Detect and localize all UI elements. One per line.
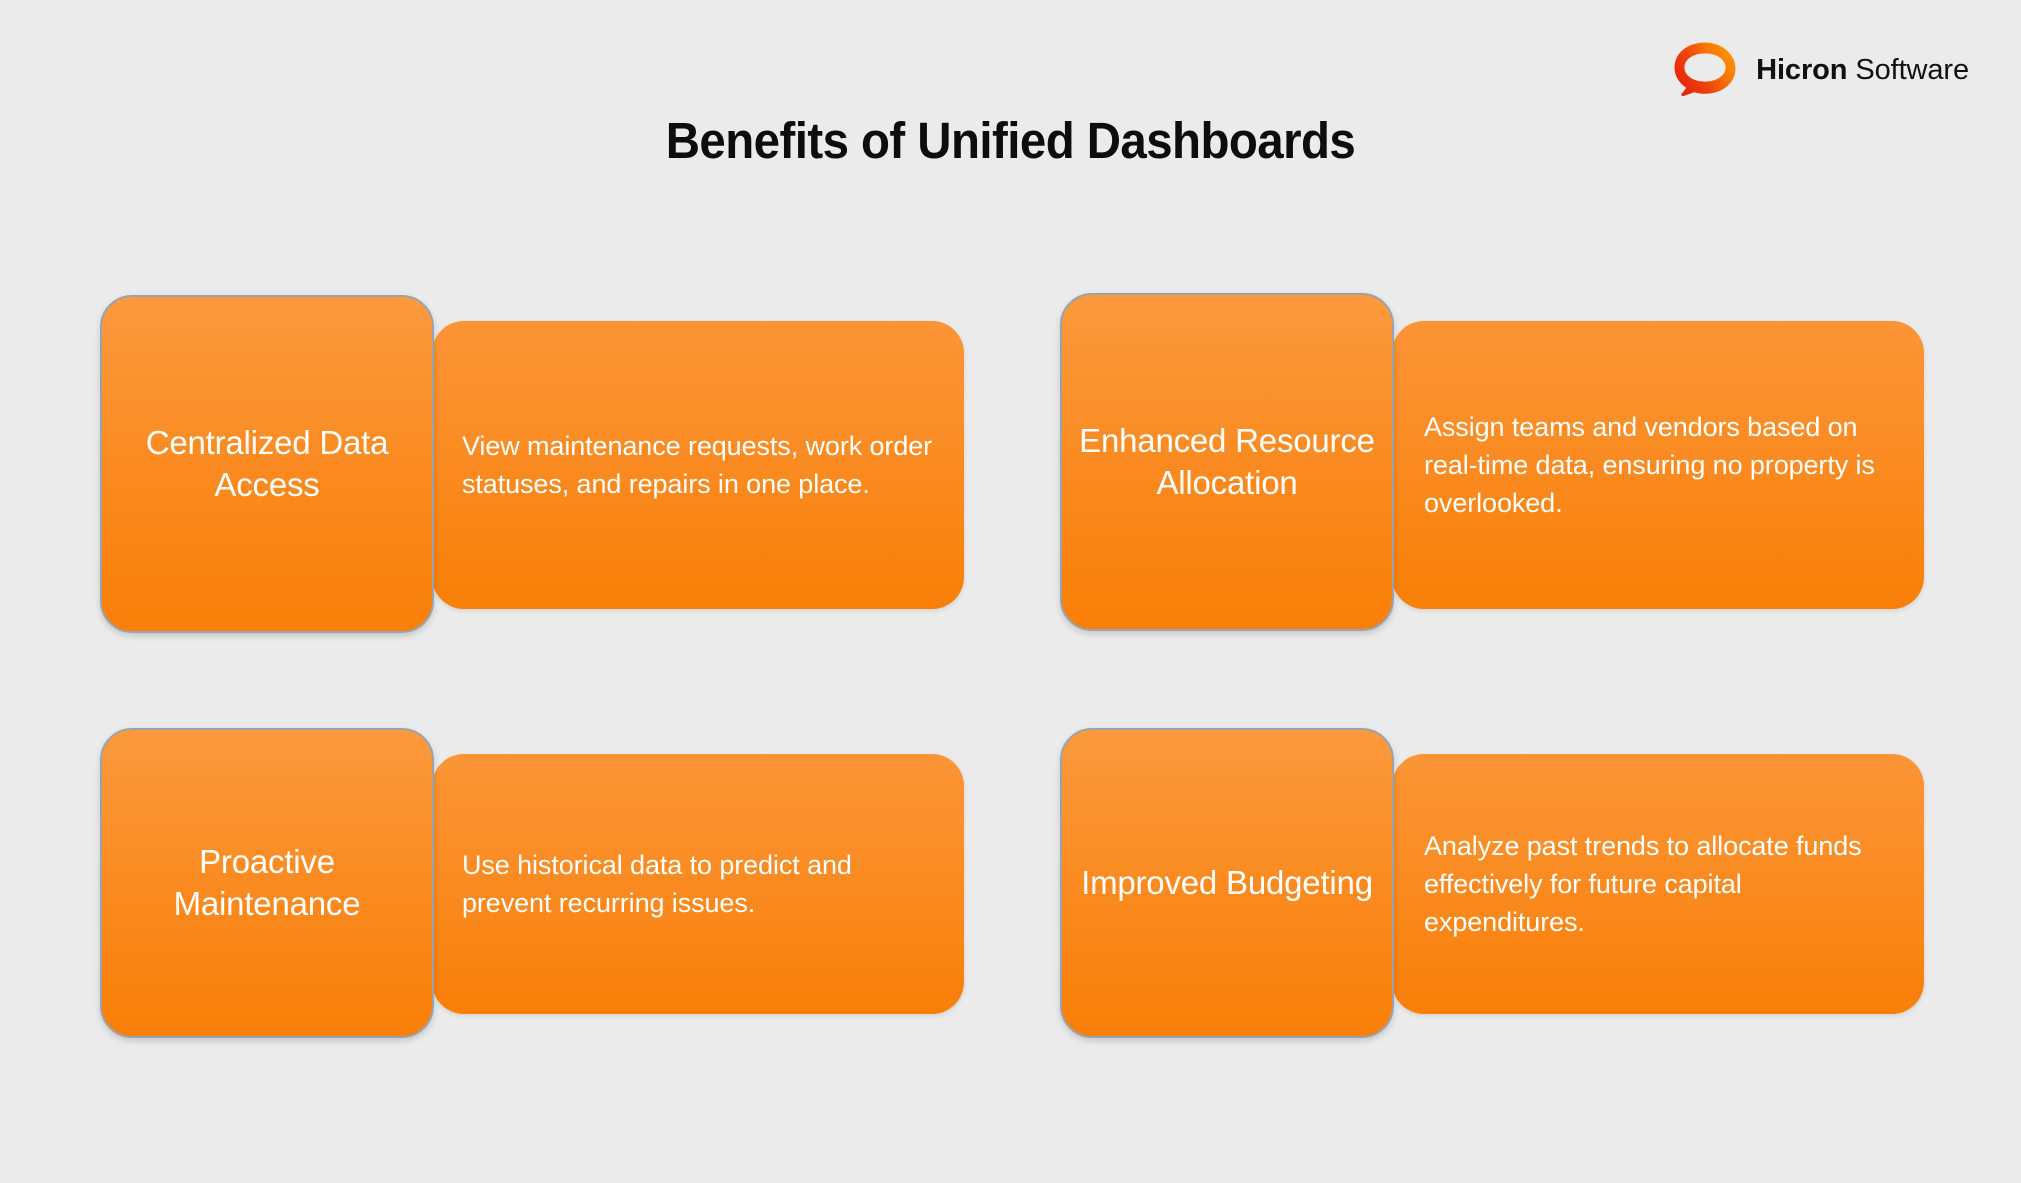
brand-lockup: Hicron Software bbox=[1672, 38, 1969, 102]
benefit-1-description-text: View maintenance requests, work order st… bbox=[432, 427, 964, 504]
benefit-3-title-text: Proactive Maintenance bbox=[102, 841, 432, 925]
benefit-4-title-panel: Improved Budgeting bbox=[1060, 728, 1394, 1038]
brand-name: Hicron Software bbox=[1756, 56, 1969, 85]
hicron-ring-logo-icon bbox=[1672, 40, 1738, 100]
benefit-2-description-text: Assign teams and vendors based on real-t… bbox=[1392, 408, 1924, 523]
benefit-1-description-panel: View maintenance requests, work order st… bbox=[432, 321, 964, 609]
slide-canvas: Hicron Software Benefits of Unified Dash… bbox=[0, 0, 2021, 1183]
brand-name-primary: Hicron bbox=[1756, 54, 1847, 86]
benefit-4-description-panel: Analyze past trends to allocate funds ef… bbox=[1392, 754, 1924, 1014]
benefit-4-title-text: Improved Budgeting bbox=[1067, 862, 1387, 904]
benefit-2-description-panel: Assign teams and vendors based on real-t… bbox=[1392, 321, 1924, 609]
benefit-3-description-panel: Use historical data to predict and preve… bbox=[432, 754, 964, 1014]
brand-name-secondary: Software bbox=[1855, 54, 1969, 86]
benefit-4-description-text: Analyze past trends to allocate funds ef… bbox=[1392, 827, 1924, 942]
benefit-2-title-text: Enhanced Resource Allocation bbox=[1062, 420, 1392, 504]
benefit-2-title-panel: Enhanced Resource Allocation bbox=[1060, 293, 1394, 631]
benefit-3-description-text: Use historical data to predict and preve… bbox=[432, 846, 964, 923]
benefit-1-title-panel: Centralized Data Access bbox=[100, 295, 434, 633]
benefit-1-title-text: Centralized Data Access bbox=[102, 422, 432, 506]
benefit-3-title-panel: Proactive Maintenance bbox=[100, 728, 434, 1038]
page-title: Benefits of Unified Dashboards bbox=[71, 113, 1951, 169]
